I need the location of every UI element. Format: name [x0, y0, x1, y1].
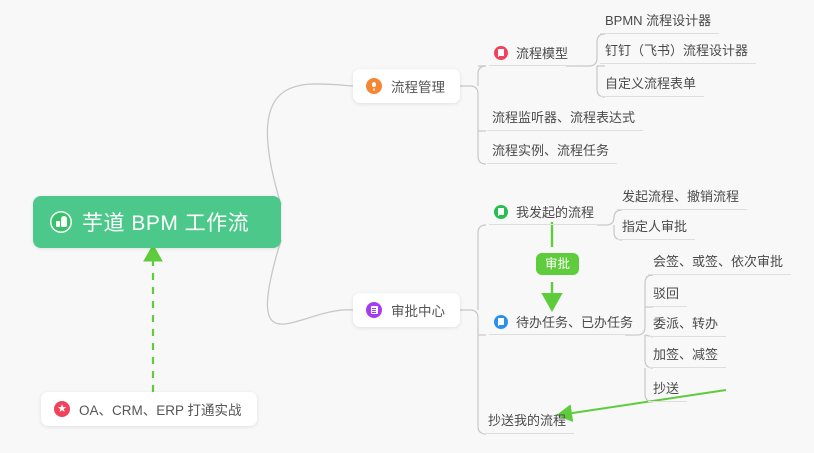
leaf-delegate[interactable]: 委派、转办: [648, 311, 726, 337]
leaf-start-cancel[interactable]: 发起流程、撤销流程: [617, 184, 747, 210]
leaf-flow-instance[interactable]: 流程实例、流程任务: [487, 138, 617, 164]
node-flow-model[interactable]: 流程模型: [489, 40, 574, 66]
leaf-assignee-approve[interactable]: 指定人审批: [617, 214, 695, 240]
node-todo-tasks[interactable]: 待办任务、已办任务: [489, 309, 639, 335]
flag-icon: [494, 46, 508, 60]
edge-approval-center-trunk: [430, 310, 486, 434]
node-my-flows[interactable]: 我发起的流程: [489, 199, 600, 225]
leaf-cc[interactable]: 抄送: [648, 376, 687, 402]
root-node-label: 芋道 BPM 工作流: [82, 207, 249, 237]
edge-flow-management-upper: [478, 66, 486, 86]
node-flow-management[interactable]: 流程管理: [353, 69, 460, 103]
edge-root-to-flow-management: [267, 84, 353, 205]
leaf-countersign[interactable]: 会签、或签、依次审批: [648, 249, 791, 275]
node-flow-model-label: 流程模型: [516, 43, 568, 62]
leaf-add-remove-sign[interactable]: 加签、减签: [648, 342, 726, 368]
leaf-dingtalk-designer[interactable]: 钉钉（飞书）流程设计器: [600, 38, 756, 64]
root-node[interactable]: 芋道 BPM 工作流: [33, 196, 281, 248]
node-oa-crm-erp-label: OA、CRM、ERP 打通实战: [79, 399, 242, 419]
node-oa-crm-erp[interactable]: OA、CRM、ERP 打通实战: [41, 392, 257, 426]
leaf-cc-my-flows[interactable]: 抄送我的流程: [483, 408, 574, 434]
bulb-pin-icon: [366, 78, 382, 94]
flag-icon: [494, 205, 508, 219]
node-flow-management-label: 流程管理: [391, 76, 445, 96]
edge-approval-center-to-my-flows: [478, 225, 486, 310]
leaf-custom-form[interactable]: 自定义流程表单: [600, 71, 704, 97]
mindmap-canvas: 芋道 BPM 工作流 流程管理 审批中心 OA、CRM、ERP 打通实战 流程模…: [0, 0, 814, 453]
edge-flow-management-riser: [470, 58, 478, 94]
node-my-flows-label: 我发起的流程: [516, 202, 594, 221]
node-approval-center[interactable]: 审批中心: [353, 293, 460, 327]
leaf-flow-listener[interactable]: 流程监听器、流程表达式: [487, 105, 643, 131]
node-todo-tasks-label: 待办任务、已办任务: [516, 312, 633, 331]
leaf-reject[interactable]: 驳回: [648, 281, 687, 307]
thumbs-up-icon: [50, 211, 72, 233]
annotation-arrow-cc: [566, 390, 726, 414]
edge-root-to-approval-center: [267, 240, 353, 324]
clipboard-icon: [366, 302, 382, 318]
star-icon: [54, 401, 70, 417]
flag-icon: [494, 315, 508, 329]
leaf-bpmn-designer[interactable]: BPMN 流程设计器: [600, 8, 719, 34]
node-approval-center-label: 审批中心: [391, 300, 445, 320]
annotation-approve-callout: 审批: [536, 253, 579, 275]
